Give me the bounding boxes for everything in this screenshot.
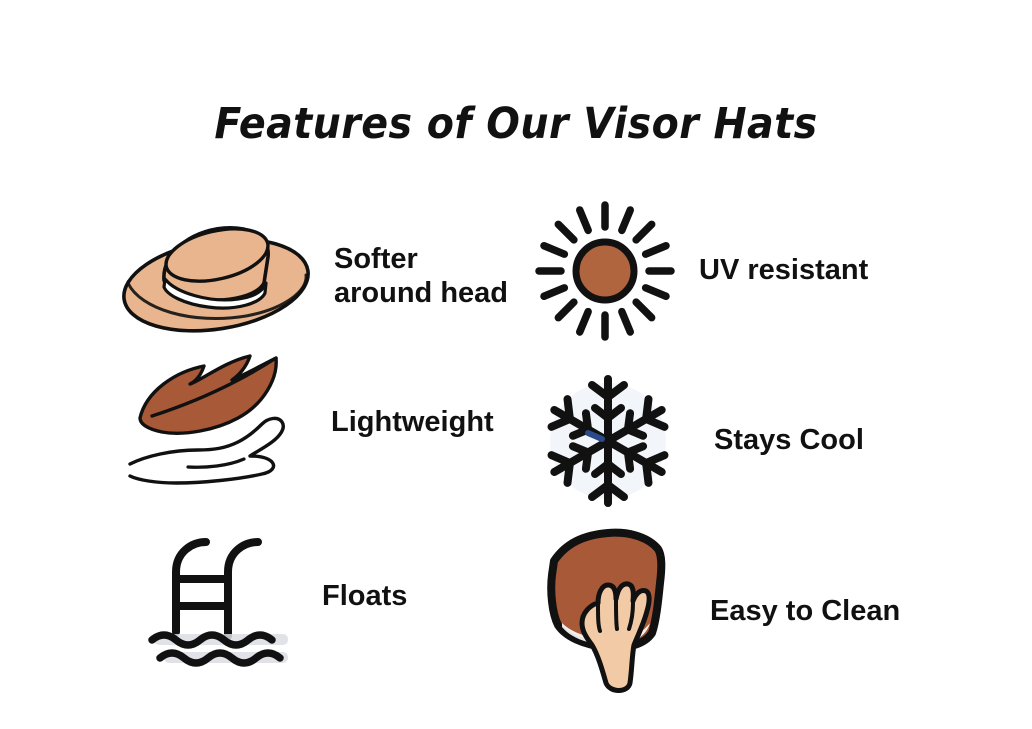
hand-wiping-cloth-icon [540, 527, 680, 697]
feature-stays-cool: Stays Cool [540, 368, 940, 513]
page-title: Features of Our Visor Hats [41, 99, 990, 149]
snowflake-icon [540, 371, 676, 511]
pool-ladder-water-icon [150, 526, 300, 668]
sun-hat-icon [118, 217, 318, 335]
leaf-on-hand-icon [128, 352, 313, 492]
feature-label-uv-resistant: UV resistant [699, 253, 868, 287]
feature-easy-to-clean: Easy to Clean [540, 524, 960, 699]
feature-lightweight: Lightweight [128, 352, 518, 492]
feature-softer-around-head: Softer around head [118, 216, 518, 336]
infographic-page: Features of Our Visor Hats Softer around… [0, 0, 1032, 729]
sun-icon [533, 199, 677, 343]
feature-floats: Floats [150, 524, 510, 669]
feature-label-easy-to-clean: Easy to Clean [710, 594, 900, 628]
feature-label-floats: Floats [322, 579, 407, 613]
feature-label-lightweight: Lightweight [331, 405, 494, 439]
feature-uv-resistant: UV resistant [533, 198, 953, 343]
feature-label-softer-around-head: Softer around head [334, 242, 508, 310]
feature-label-stays-cool: Stays Cool [714, 423, 864, 457]
